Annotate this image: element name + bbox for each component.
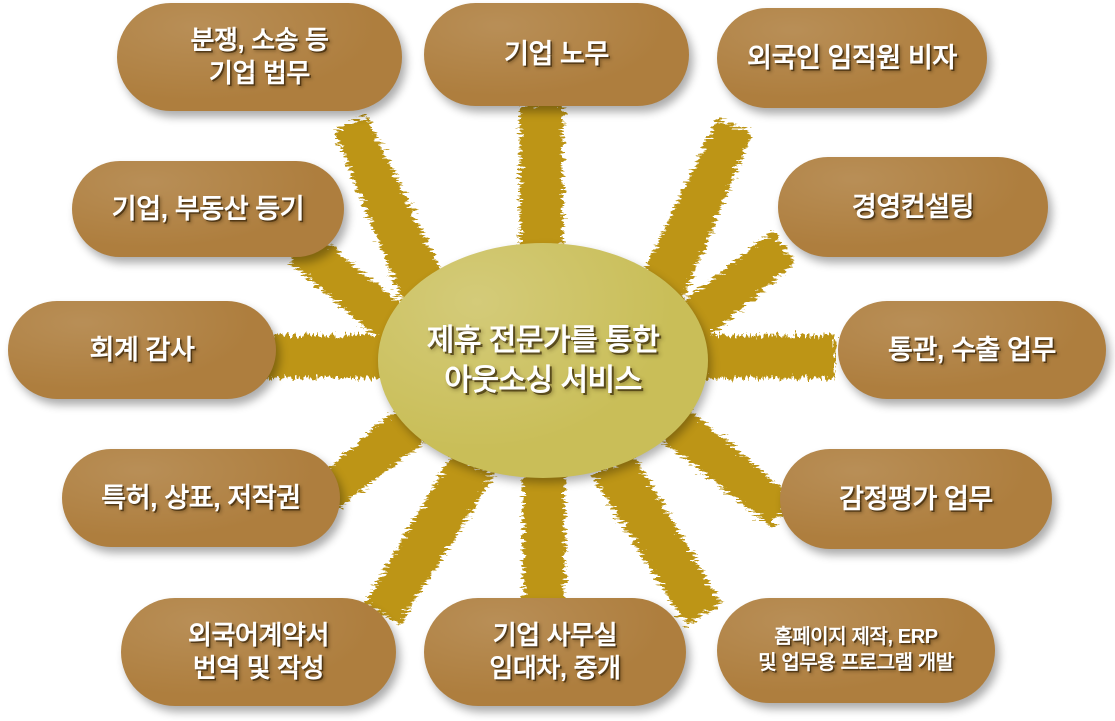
node-line1: 외국인 임직원 비자: [747, 41, 957, 75]
center-hub[interactable]: 제휴 전문가를 통한 아웃소싱 서비스: [378, 243, 708, 478]
node-label: 외국어계약서 번역 및 작성: [174, 619, 343, 685]
node-line1: 기업, 부동산 등기: [112, 192, 304, 226]
node-patent-trademark-copyright[interactable]: 특허, 상표, 저작권: [62, 449, 340, 547]
node-label: 분쟁, 소송 등 기업 법무: [176, 24, 342, 90]
node-foreign-contract-translation[interactable]: 외국어계약서 번역 및 작성: [121, 598, 396, 706]
node-line1: 기업 사무실: [489, 619, 620, 652]
node-line1: 분쟁, 소송 등: [190, 24, 328, 57]
node-line2: 번역 및 작성: [188, 652, 329, 685]
node-foreign-employee-visa[interactable]: 외국인 임직원 비자: [717, 8, 987, 108]
node-management-consulting[interactable]: 경영컨설팅: [778, 157, 1048, 257]
node-label: 기업 사무실 임대차, 중개: [475, 619, 634, 685]
node-line1: 홈페이지 제작, ERP: [758, 625, 953, 650]
node-label: 특허, 상표, 저작권: [87, 481, 315, 515]
node-line2: 기업 법무: [190, 57, 328, 90]
node-line1: 회계 감사: [90, 333, 195, 367]
node-customs-export[interactable]: 통관, 수출 업무: [838, 301, 1106, 399]
node-line1: 감정평가 업무: [839, 482, 993, 516]
node-label: 회계 감사: [76, 333, 209, 367]
node-line1: 외국어계약서: [188, 619, 329, 652]
node-line2: 임대차, 중개: [489, 652, 620, 685]
node-accounting-audit[interactable]: 회계 감사: [8, 301, 276, 399]
node-label: 외국인 임직원 비자: [733, 41, 971, 75]
node-line1: 통관, 수출 업무: [888, 333, 1056, 367]
node-line2: 및 업무용 프로그램 개발: [758, 651, 953, 676]
node-office-lease-brokerage[interactable]: 기업 사무실 임대차, 중개: [424, 598, 686, 706]
node-appraisal-services[interactable]: 감정평가 업무: [780, 449, 1052, 549]
node-label: 홈페이지 제작, ERP 및 업무용 프로그램 개발: [744, 625, 967, 675]
center-hub-label: 제휴 전문가를 통한 아웃소싱 서비스: [417, 321, 669, 400]
node-line1: 기업 노무: [504, 37, 609, 71]
node-label: 기업, 부동산 등기: [98, 192, 318, 226]
node-web-erp-development[interactable]: 홈페이지 제작, ERP 및 업무용 프로그램 개발: [717, 598, 995, 703]
center-hub-line1: 제휴 전문가를 통한: [427, 321, 659, 361]
node-label: 기업 노무: [490, 37, 623, 71]
node-corporate-labor[interactable]: 기업 노무: [424, 3, 689, 106]
diagram-canvas: 제휴 전문가를 통한 아웃소싱 서비스 분쟁, 소송 등 기업 법무 기업 노무…: [0, 0, 1115, 721]
node-label: 경영컨설팅: [838, 190, 988, 224]
node-line1: 경영컨설팅: [852, 190, 974, 224]
node-corporate-legal-affairs[interactable]: 분쟁, 소송 등 기업 법무: [117, 3, 402, 111]
node-line1: 특허, 상표, 저작권: [101, 481, 301, 515]
center-hub-line2: 아웃소싱 서비스: [427, 361, 659, 401]
node-label: 통관, 수출 업무: [874, 333, 1070, 367]
node-label: 감정평가 업무: [825, 482, 1007, 516]
node-corporate-realestate-registration[interactable]: 기업, 부동산 등기: [72, 161, 344, 257]
